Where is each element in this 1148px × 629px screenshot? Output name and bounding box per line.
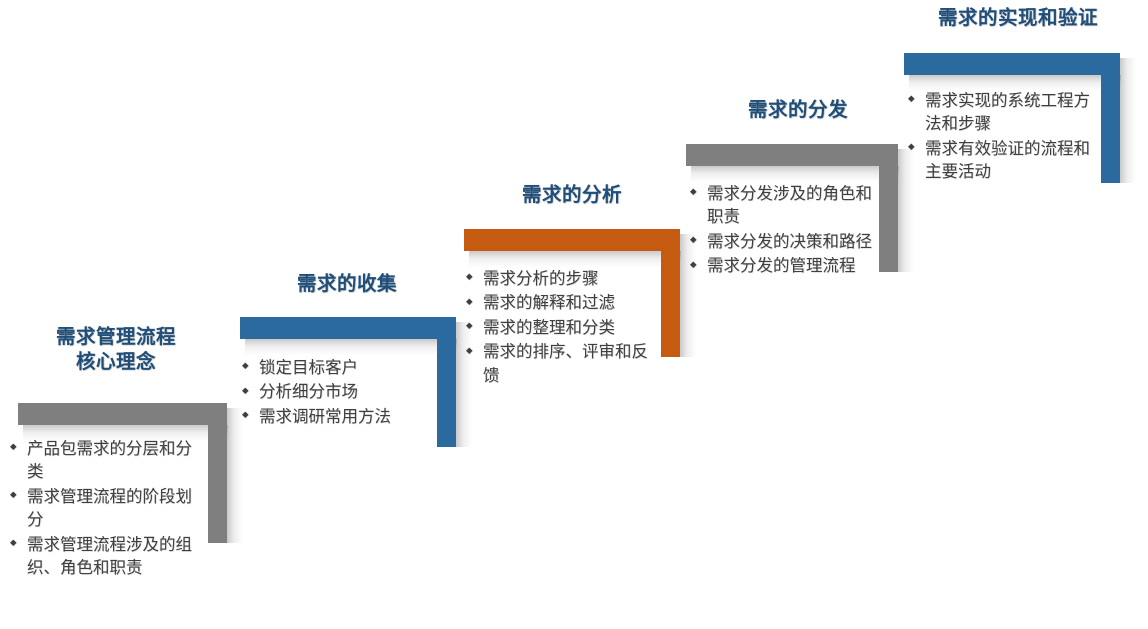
step-3-arm-shadow <box>469 251 681 267</box>
list-item: 分析细分市场 <box>242 381 442 404</box>
step-5-arm-shadow <box>909 75 1121 91</box>
step-3-leg <box>661 229 680 357</box>
step-4-leg <box>879 144 898 272</box>
list-item: 需求分发的决策和路径 <box>690 231 872 254</box>
step-4-arm-shadow <box>691 166 899 182</box>
list-item: 需求管理流程的阶段划分 <box>10 486 206 533</box>
process-diagram-canvas: 需求管理流程 核心理念 产品包需求的分层和分类 需求管理流程的阶段划分 需求管理… <box>0 0 1148 629</box>
list-item: 需求分发涉及的角色和职责 <box>690 183 872 230</box>
step-5-arm <box>904 53 1120 75</box>
step-3-arm <box>464 229 680 251</box>
step-5-title: 需求的实现和验证 <box>906 6 1130 31</box>
step-1-leg <box>208 403 227 543</box>
list-item: 需求实现的系统工程方法和步骤 <box>908 90 1094 137</box>
step-2-bullet-list: 锁定目标客户 分析细分市场 需求调研常用方法 <box>242 357 442 430</box>
list-item: 需求的解释和过滤 <box>466 292 652 315</box>
step-1-bullet-list: 产品包需求的分层和分类 需求管理流程的阶段划分 需求管理流程涉及的组织、角色和职… <box>10 438 206 582</box>
step-3-bullet-list: 需求分析的步骤 需求的解释和过滤 需求的整理和分类 需求的排序、评审和反馈 <box>466 268 652 389</box>
list-item: 产品包需求的分层和分类 <box>10 438 206 485</box>
step-2-arm <box>240 317 456 339</box>
list-item: 锁定目标客户 <box>242 357 442 380</box>
step-3-title: 需求的分析 <box>472 183 672 208</box>
step-2-arm-shadow <box>245 339 457 355</box>
list-item: 需求的整理和分类 <box>466 317 652 340</box>
list-item: 需求调研常用方法 <box>242 406 442 429</box>
step-4-bullet-list: 需求分发涉及的角色和职责 需求分发的决策和路径 需求分发的管理流程 <box>690 183 872 280</box>
list-item: 需求有效验证的流程和主要活动 <box>908 138 1094 185</box>
step-5-leg <box>1101 53 1120 183</box>
list-item: 需求分析的步骤 <box>466 268 652 291</box>
step-4-title: 需求的分发 <box>698 98 898 123</box>
step-1-title: 需求管理流程 核心理念 <box>16 325 216 375</box>
list-item: 需求分发的管理流程 <box>690 255 872 278</box>
step-5-leg-shadow <box>1120 58 1136 183</box>
step-4-arm <box>686 144 898 166</box>
step-2-title: 需求的收集 <box>244 272 450 297</box>
step-1-arm <box>18 403 227 425</box>
list-item: 需求的排序、评审和反馈 <box>466 341 652 388</box>
list-item: 需求管理流程涉及的组织、角色和职责 <box>10 534 206 581</box>
step-5-bullet-list: 需求实现的系统工程方法和步骤 需求有效验证的流程和主要活动 <box>908 90 1094 186</box>
